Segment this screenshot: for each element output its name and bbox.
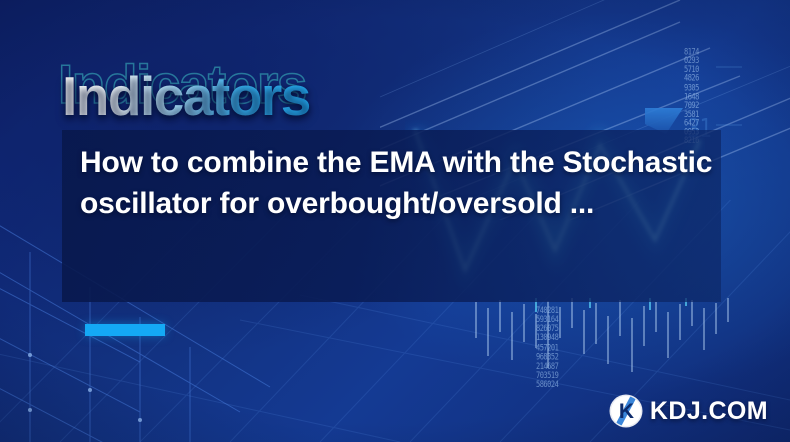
- logo-wordmark: KDJ.COM: [650, 397, 768, 426]
- category-title: Indicators: [62, 64, 310, 128]
- headline-text: How to combine the EMA with the Stochast…: [80, 142, 740, 224]
- logo-letter: K: [611, 396, 641, 426]
- accent-bar: [85, 324, 165, 336]
- logo-mark-icon: K: [611, 396, 641, 426]
- banner-card: 8174 0293 5710 4826 9305 1648 7092 3581 …: [0, 0, 790, 442]
- site-logo[interactable]: K KDJ.COM: [611, 396, 768, 426]
